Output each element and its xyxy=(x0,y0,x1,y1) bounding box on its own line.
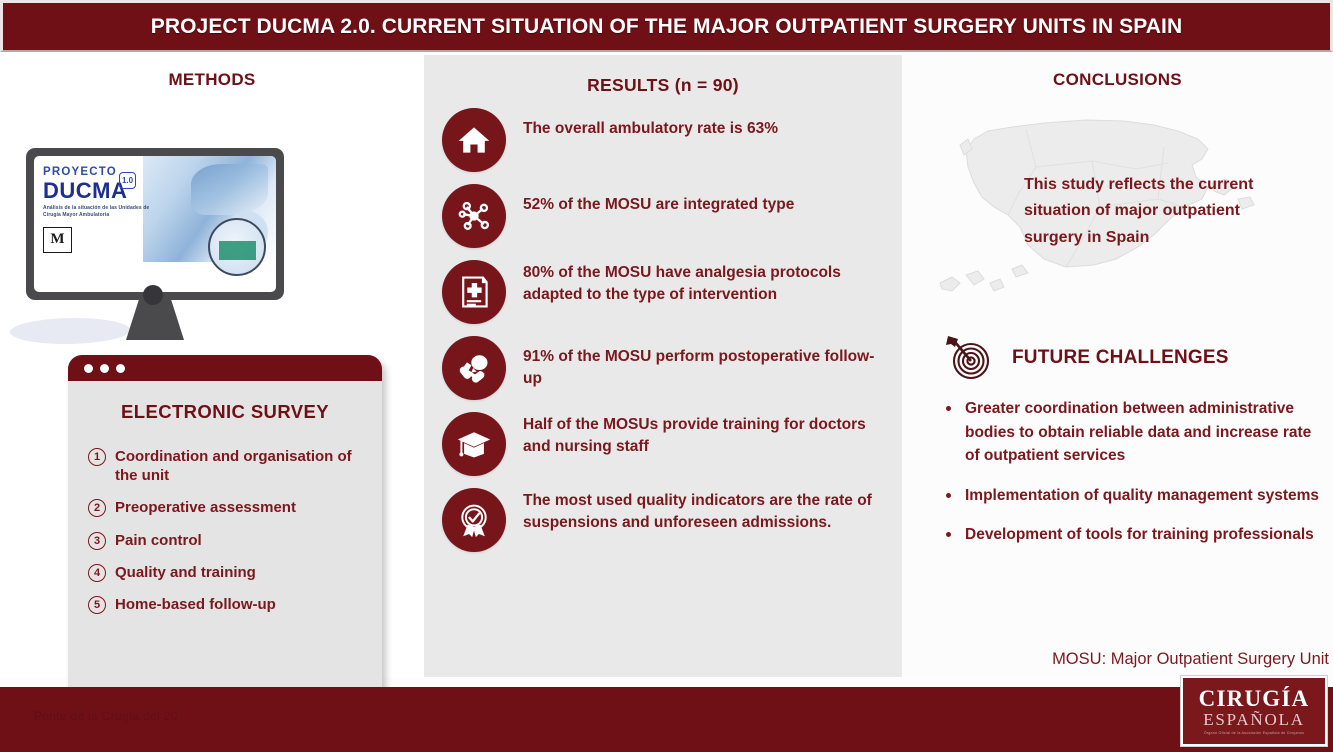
list-item: 52% of the MOSU are integrated type xyxy=(442,184,888,248)
window-dot-yellow-icon xyxy=(100,364,109,373)
page-title: PROJECT DUCMA 2.0. CURRENT SITUATION OF … xyxy=(151,15,1183,39)
challenge-text: Development of tools for training profes… xyxy=(965,523,1314,547)
bullet-icon xyxy=(946,493,951,498)
survey-item-label: Preoperative assessment xyxy=(113,498,296,517)
bullet-icon xyxy=(946,406,951,411)
poster-root: PROJECT DUCMA 2.0. CURRENT SITUATION OF … xyxy=(0,0,1333,752)
monitor-illustration: PROYECTO DUCMA 1.0 Análisis de la situac… xyxy=(18,148,298,363)
future-challenges-title: FUTURE CHALLENGES xyxy=(1012,347,1229,369)
brand-proyecto-label: PROYECTO xyxy=(43,167,168,179)
logo-line-2: ESPAÑOLA xyxy=(1203,710,1305,730)
results-items-list: The overall ambulatory rate is 63% 52% o… xyxy=(424,108,902,552)
electronic-survey-card: ELECTRONIC SURVEY 1 Coordination and org… xyxy=(68,355,382,702)
list-item: Implementation of quality management sys… xyxy=(946,484,1326,508)
methods-heading: METHODS xyxy=(0,70,424,90)
list-item: 2 Preoperative assessment xyxy=(88,498,366,517)
result-item-text: The most used quality indicators are the… xyxy=(523,488,888,535)
survey-item-label: Quality and training xyxy=(113,563,256,582)
phone-call-icon xyxy=(442,336,506,400)
list-item: 91% of the MOSU perform postoperative fo… xyxy=(442,336,888,400)
survey-item-label: Pain control xyxy=(113,531,202,550)
footer-faint-text: Ponte de la Crugía del 20 xyxy=(34,709,178,723)
logo-line-3: Órgano Oficial de la Asociación Española… xyxy=(1204,731,1304,735)
conclusion-statement: This study reflects the current situatio… xyxy=(1024,172,1299,251)
survey-heading: ELECTRONIC SURVEY xyxy=(68,401,382,423)
monitor-shadow xyxy=(5,318,134,344)
conclusions-panel: CONCLUSIONS xyxy=(902,52,1333,677)
result-item-text: Half of the MOSUs provide training for d… xyxy=(523,412,888,459)
list-item: The overall ambulatory rate is 63% xyxy=(442,108,888,172)
survey-item-number: 3 xyxy=(88,532,106,550)
result-item-text: 91% of the MOSU perform postoperative fo… xyxy=(523,336,888,391)
list-item: Development of tools for training profes… xyxy=(946,523,1326,547)
challenge-text: Greater coordination between administrat… xyxy=(965,397,1326,468)
magnifier-icon xyxy=(208,218,266,276)
brand-subtitle: Análisis de la situación de las Unidades… xyxy=(43,205,168,220)
poster-footer: Ponte de la Crugía del 20 CIRUGÍA ESPAÑO… xyxy=(0,687,1333,752)
list-item: Greater coordination between administrat… xyxy=(946,397,1326,468)
future-challenges-header: FUTURE CHALLENGES xyxy=(942,335,1229,381)
methods-panel: METHODS PROYECTO DUCMA 1.0 Análisis de l… xyxy=(0,52,424,677)
home-icon xyxy=(442,108,506,172)
version-badge: 1.0 xyxy=(119,172,136,189)
window-dot-green-icon xyxy=(116,364,125,373)
list-item: 5 Home-based follow-up xyxy=(88,595,366,614)
network-nodes-icon xyxy=(442,184,506,248)
survey-item-number: 2 xyxy=(88,499,106,517)
result-item-text: The overall ambulatory rate is 63% xyxy=(523,108,778,140)
list-item: Half of the MOSUs provide training for d… xyxy=(442,412,888,476)
cirugia-espanola-logo: CIRUGÍA ESPAÑOLA Órgano Oficial de la As… xyxy=(1181,676,1327,746)
target-dart-icon xyxy=(942,335,996,381)
survey-item-number: 4 xyxy=(88,564,106,582)
survey-item-number: 1 xyxy=(88,448,106,466)
survey-items-list: 1 Coordination and organisation of the u… xyxy=(68,447,382,614)
medical-document-icon xyxy=(442,260,506,324)
list-item: 3 Pain control xyxy=(88,531,366,550)
challenge-text: Implementation of quality management sys… xyxy=(965,484,1319,508)
graduation-cap-icon xyxy=(442,412,506,476)
list-item: 1 Coordination and organisation of the u… xyxy=(88,447,366,485)
result-item-text: 80% of the MOSU have analgesia protocols… xyxy=(523,260,888,307)
challenges-list: Greater coordination between administrat… xyxy=(946,397,1326,563)
monitor-screen: PROYECTO DUCMA 1.0 Análisis de la situac… xyxy=(34,156,276,292)
list-item: 4 Quality and training xyxy=(88,563,366,582)
poster-header: PROJECT DUCMA 2.0. CURRENT SITUATION OF … xyxy=(0,0,1333,52)
survey-item-label: Home-based follow-up xyxy=(113,595,276,614)
award-medal-icon xyxy=(442,488,506,552)
bullet-icon xyxy=(946,532,951,537)
brand-ducma-label: DUCMA xyxy=(43,180,168,202)
results-panel: RESULTS (n = 90) The overall ambulatory … xyxy=(424,55,902,677)
monitor-stand xyxy=(126,300,184,340)
association-logo: M xyxy=(43,227,72,253)
list-item: 80% of the MOSU have analgesia protocols… xyxy=(442,260,888,324)
result-item-text: 52% of the MOSU are integrated type xyxy=(523,184,794,216)
results-heading: RESULTS (n = 90) xyxy=(424,75,902,96)
survey-item-label: Coordination and organisation of the uni… xyxy=(113,447,366,485)
mosu-legend: MOSU: Major Outpatient Surgery Unit xyxy=(1052,650,1329,669)
ducma-logo: PROYECTO DUCMA 1.0 Análisis de la situac… xyxy=(43,167,168,253)
monitor-frame: PROYECTO DUCMA 1.0 Análisis de la situac… xyxy=(26,148,284,300)
list-item: The most used quality indicators are the… xyxy=(442,488,888,552)
window-dot-red-icon xyxy=(84,364,93,373)
survey-window-titlebar xyxy=(68,355,382,381)
logo-line-1: CIRUGÍA xyxy=(1199,687,1310,710)
survey-item-number: 5 xyxy=(88,596,106,614)
monitor-base-knob xyxy=(143,285,163,305)
